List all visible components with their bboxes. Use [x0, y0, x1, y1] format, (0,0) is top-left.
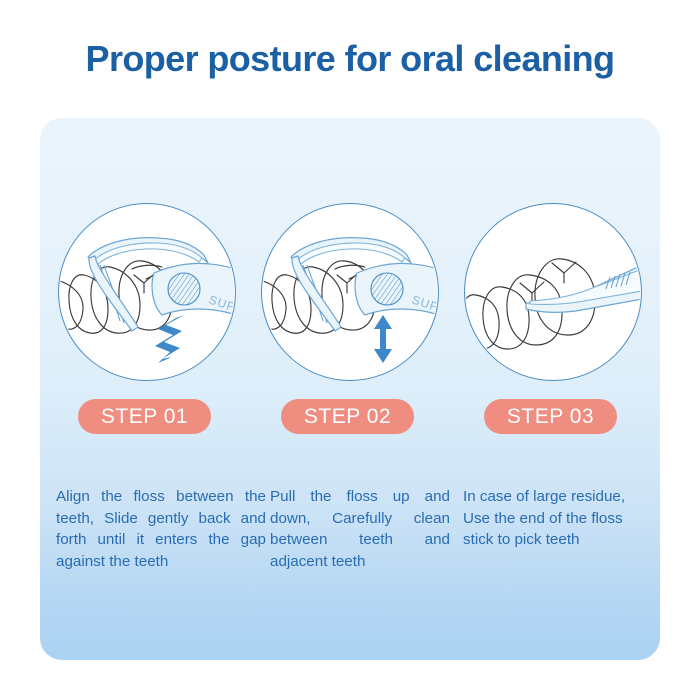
step-caption-2: Pull the floss up and down, Carefully cl… [270, 486, 450, 572]
pick-stick-against-teeth-icon [464, 203, 642, 381]
illustration-step-1: SUP [58, 203, 236, 381]
step-caption-1: Align the floss between the teeth, Slide… [56, 486, 266, 572]
illustration-row: SUP [40, 203, 660, 381]
illustration-step-3 [464, 203, 642, 381]
step-badge-1[interactable]: STEP 01 [78, 399, 211, 434]
content-panel: SUP [40, 118, 660, 660]
illustration-step-2: SUP [261, 203, 439, 381]
step-caption-3: In case of large residue, Use the end of… [463, 486, 648, 551]
caption-row: Align the floss between the teeth, Slide… [40, 486, 660, 596]
floss-pick-back-and-forth-icon: SUP [58, 203, 236, 381]
step-badge-2[interactable]: STEP 02 [281, 399, 414, 434]
floss-pick-up-and-down-icon: SUP [261, 203, 439, 381]
page-title: Proper posture for oral cleaning [0, 38, 700, 80]
step-badge-3[interactable]: STEP 03 [484, 399, 617, 434]
step-badge-row: STEP 01 STEP 02 STEP 03 [40, 399, 660, 437]
